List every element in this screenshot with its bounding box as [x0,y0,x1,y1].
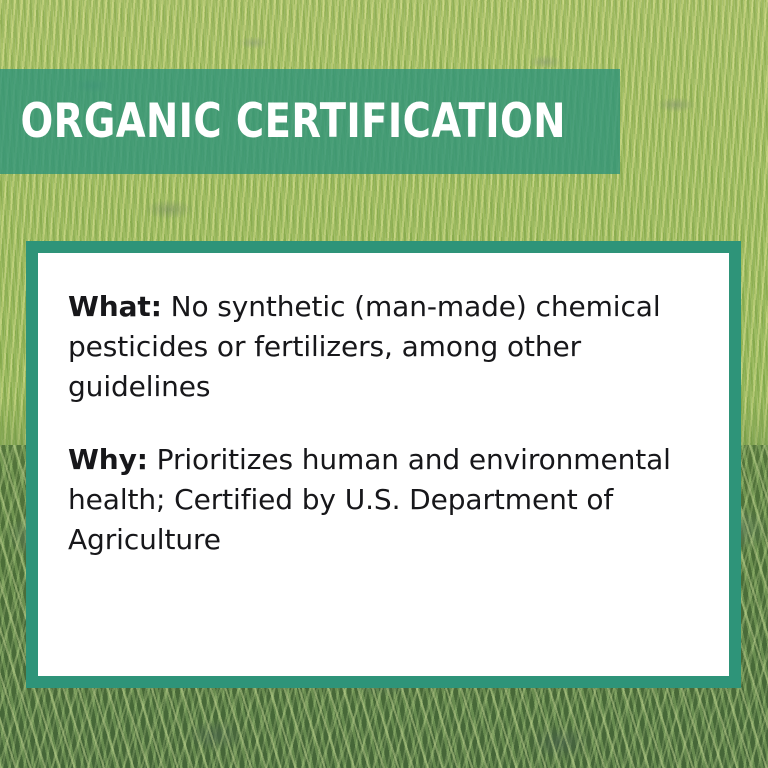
why-paragraph: Why: Prioritizes human and environmental… [68,440,699,559]
info-card-body: What: No synthetic (man-made) chemical p… [38,253,729,676]
what-label: What: [68,290,162,323]
what-paragraph: What: No synthetic (man-made) chemical p… [68,287,699,406]
why-text: Prioritizes human and environmental heal… [68,443,671,556]
page-title: ORGANIC CERTIFICATION [0,98,566,145]
title-banner: ORGANIC CERTIFICATION [0,69,620,174]
why-label: Why: [68,443,148,476]
organic-certification-slide: ORGANIC CERTIFICATION What: No synthetic… [0,0,768,768]
info-card: What: No synthetic (man-made) chemical p… [26,241,741,688]
